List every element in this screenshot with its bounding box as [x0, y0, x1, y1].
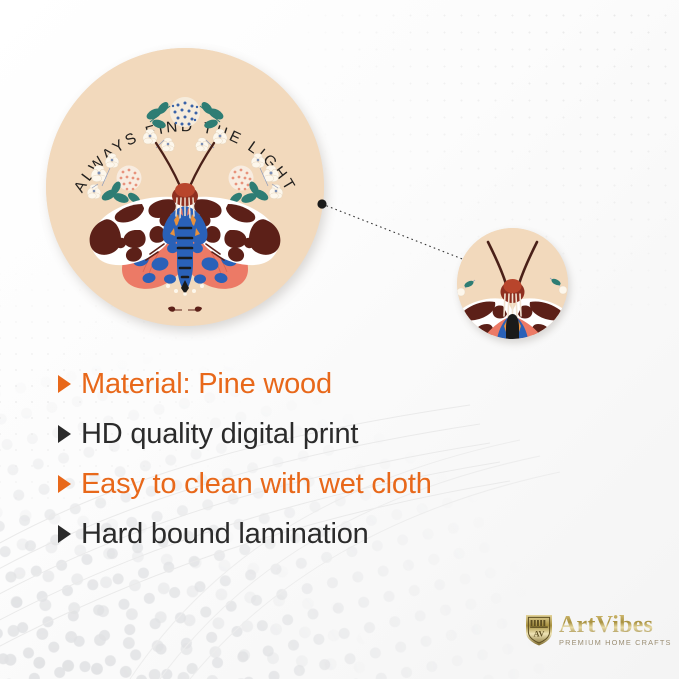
feature-label: HD quality digital print: [81, 418, 358, 451]
crest-monogram: AV: [534, 630, 545, 639]
feature-item-material: Material: Pine wood: [58, 359, 618, 409]
feature-item-lamination: Hard bound lamination: [58, 509, 618, 559]
brand-tagline: PREMIUM HOME CRAFTS: [559, 639, 672, 646]
feature-label: Material: Pine wood: [81, 368, 332, 401]
moth-artwork: ALWAYS FIND THE LIGHT: [46, 48, 324, 326]
shield-crest-icon: AV: [524, 613, 554, 647]
triangle-right-icon: [58, 425, 71, 443]
moth-detail-artwork: [457, 228, 568, 339]
brand-name: ArtVibes: [559, 613, 672, 637]
product-detail-zoom-inset[interactable]: [457, 228, 568, 339]
product-circular-wall-art[interactable]: ALWAYS FIND THE LIGHT: [46, 48, 324, 326]
feature-item-print-quality: HD quality digital print: [58, 409, 618, 459]
feature-item-cleaning: Easy to clean with wet cloth: [58, 459, 618, 509]
feature-label: Easy to clean with wet cloth: [81, 468, 432, 501]
brand-logo[interactable]: AV ArtVibes PREMIUM HOME CRAFTS: [524, 613, 672, 647]
feature-label: Hard bound lamination: [81, 518, 369, 551]
triangle-right-icon: [58, 475, 71, 493]
feature-list: Material: Pine wood HD quality digital p…: [58, 359, 618, 559]
logo-text-block: ArtVibes PREMIUM HOME CRAFTS: [559, 613, 672, 646]
triangle-right-icon: [58, 525, 71, 543]
product-marketing-image: ALWAYS FIND THE LIGHT: [0, 0, 679, 679]
triangle-right-icon: [58, 375, 71, 393]
